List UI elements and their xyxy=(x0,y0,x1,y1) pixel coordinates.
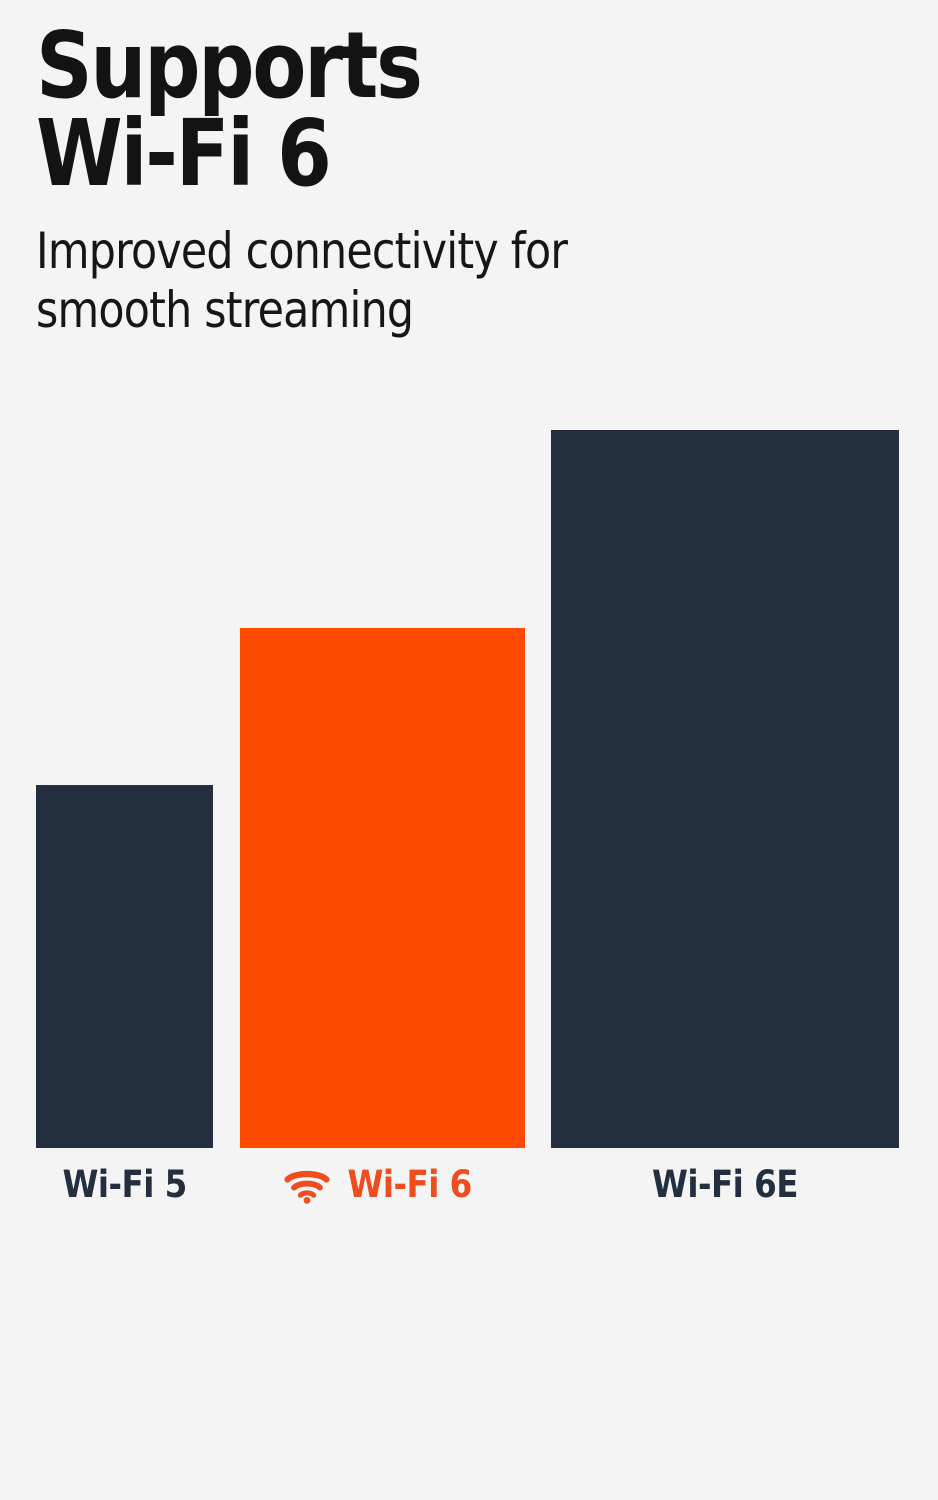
bar-group-wifi-5 xyxy=(36,430,213,1148)
bar-group-wifi-6 xyxy=(240,430,525,1148)
wifi6-infographic-card: Supports Wi-Fi 6 Improved connectivity f… xyxy=(0,0,938,1500)
axis-label-wifi-5: Wi-Fi 5 xyxy=(36,1160,213,1208)
axis-label-text-wifi-6: Wi-Fi 6 xyxy=(348,1166,472,1203)
bar-wifi-6e xyxy=(551,430,899,1148)
wifi-icon xyxy=(284,1168,330,1204)
chart-plot-area xyxy=(0,430,938,1148)
header-block: Supports Wi-Fi 6 Improved connectivity f… xyxy=(36,22,896,199)
page-title: Supports Wi-Fi 6 xyxy=(36,22,771,199)
page-subtitle: Improved connectivity for smooth streami… xyxy=(36,222,567,339)
chart-axis-labels: Wi-Fi 5 Wi-Fi 6 Wi-Fi 6E xyxy=(0,1160,938,1220)
axis-label-wifi-6e: Wi-Fi 6E xyxy=(551,1160,899,1208)
axis-label-text-wifi-5: Wi-Fi 5 xyxy=(62,1166,186,1203)
bar-wifi-6 xyxy=(240,628,525,1148)
bar-wifi-5 xyxy=(36,785,213,1148)
axis-label-wifi-6: Wi-Fi 6 xyxy=(240,1160,525,1208)
bar-chart: Wi-Fi 5 Wi-Fi 6 Wi-Fi 6E xyxy=(0,430,938,1230)
axis-label-text-wifi-6e: Wi-Fi 6E xyxy=(652,1166,798,1203)
bar-group-wifi-6e xyxy=(551,430,899,1148)
